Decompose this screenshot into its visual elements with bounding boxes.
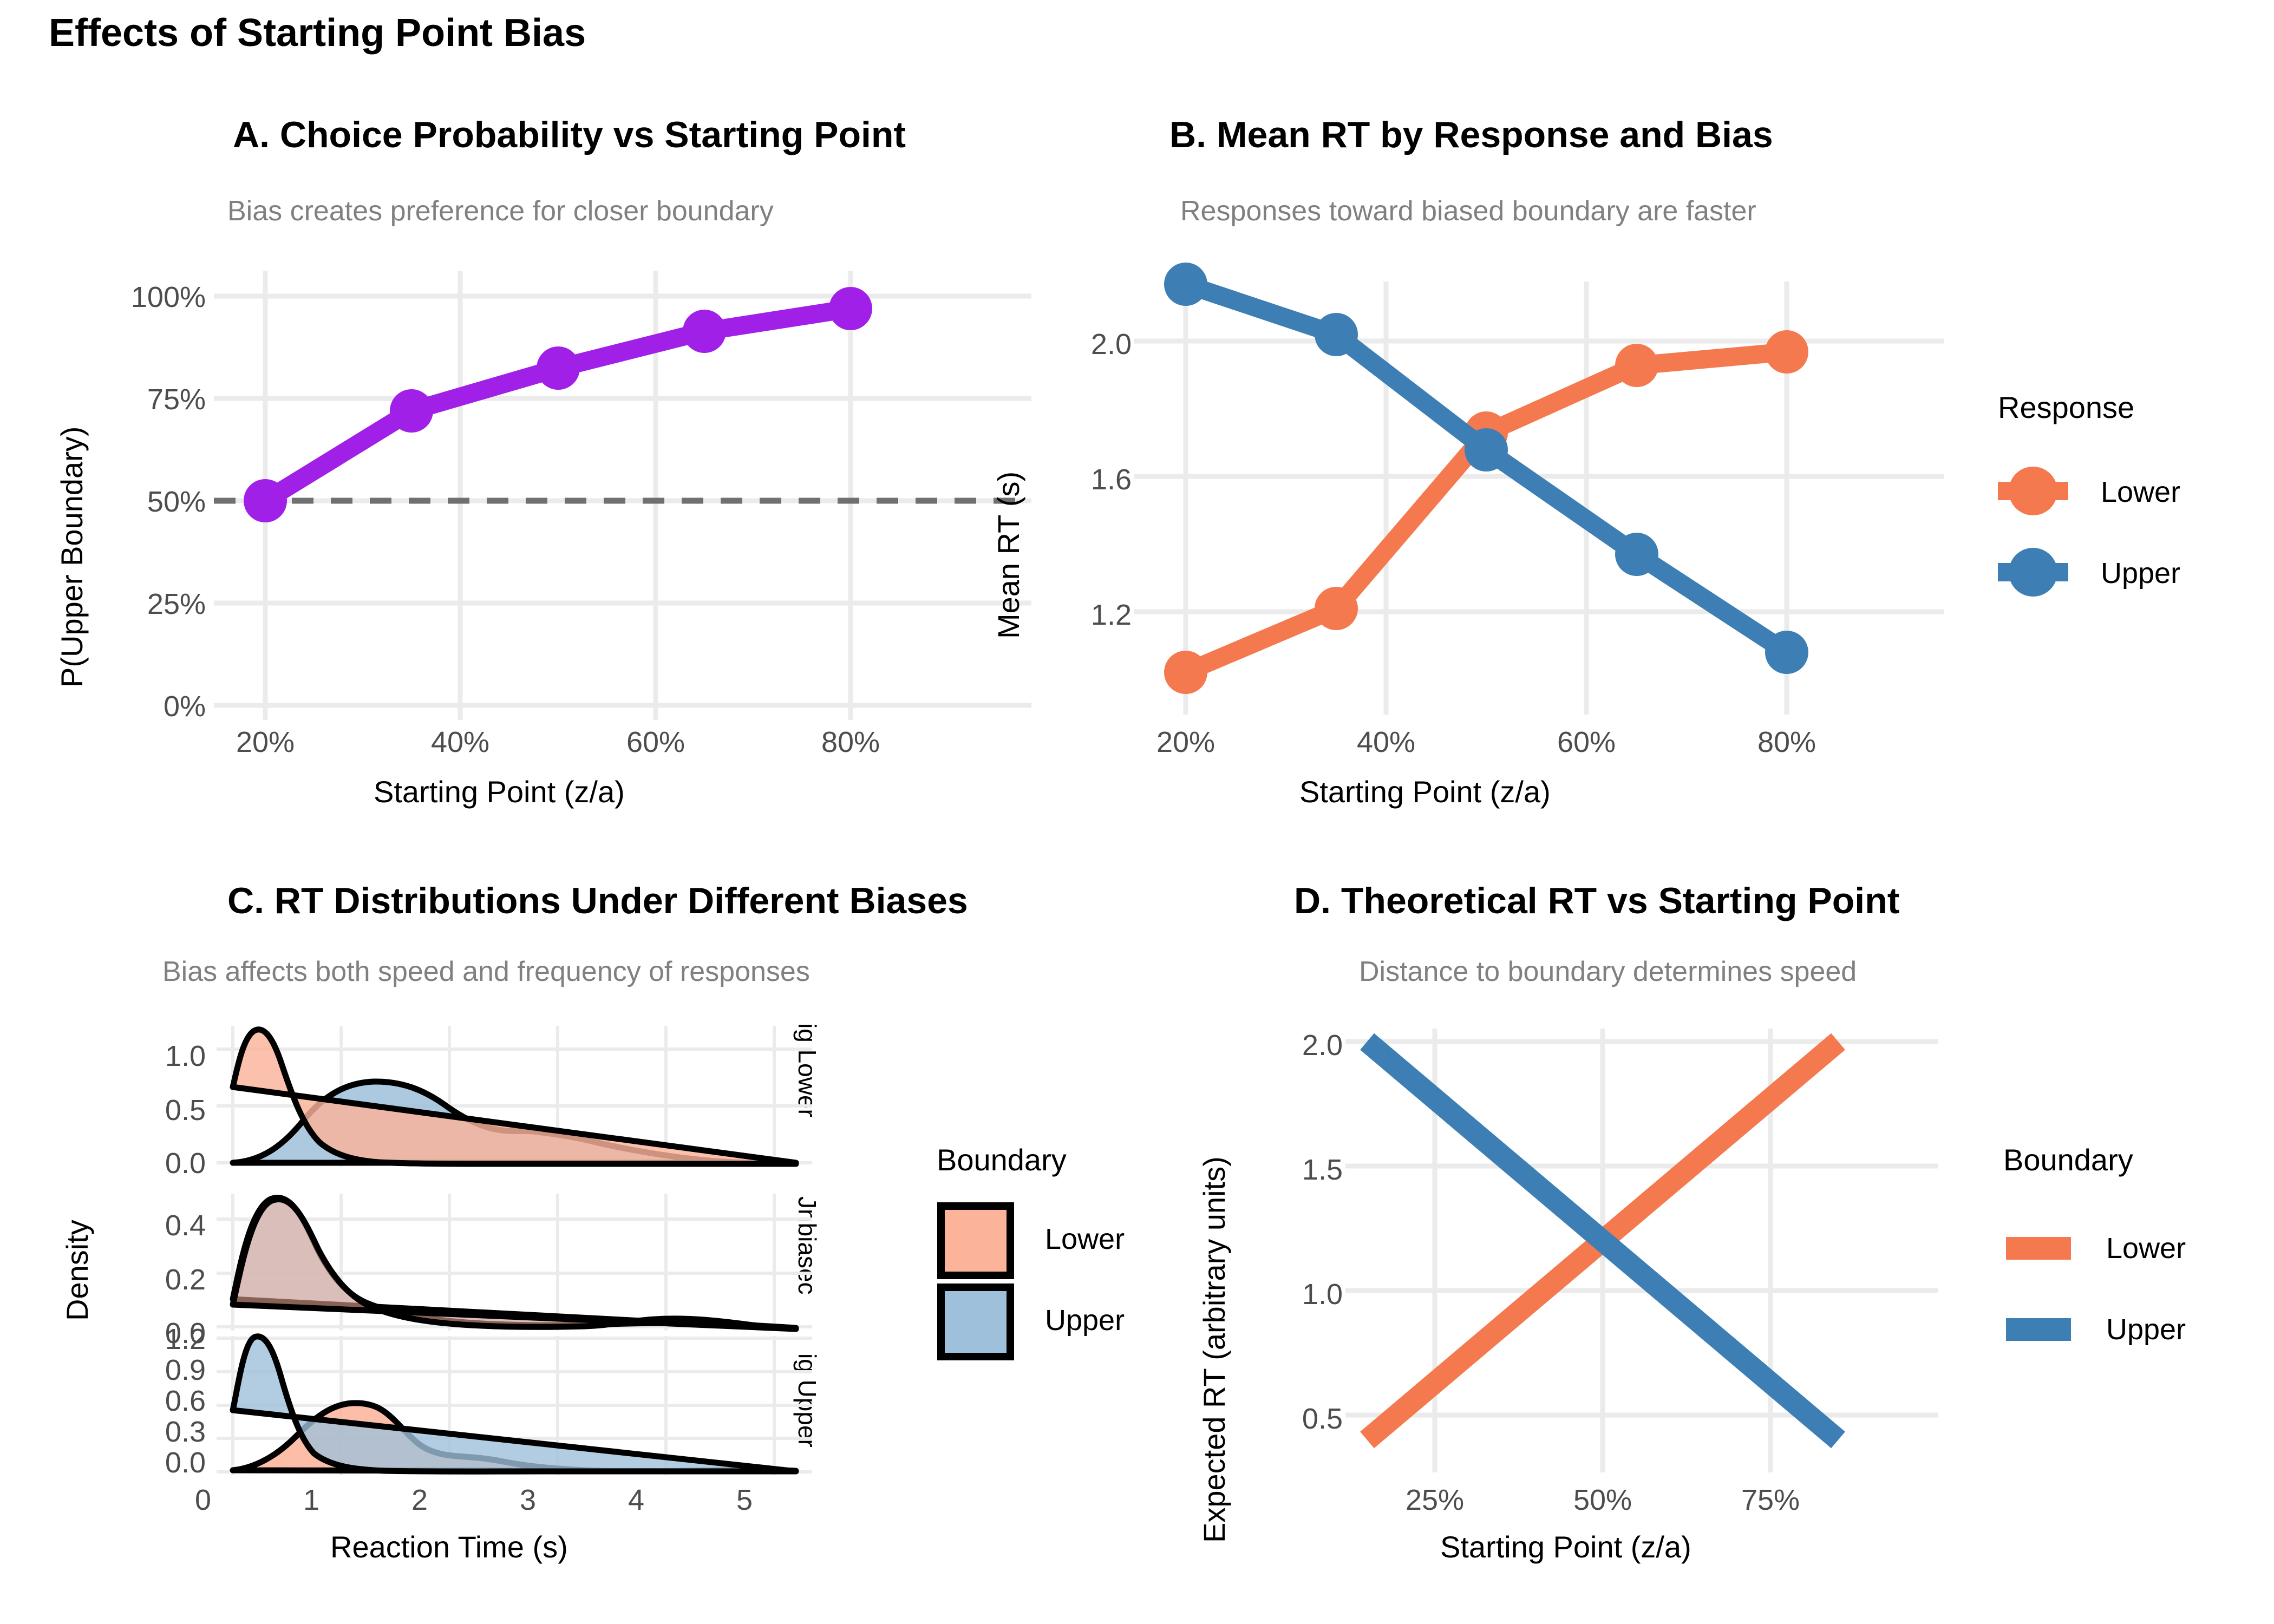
panel-d-legend-item-upper[interactable]: Upper [2106,1313,2186,1346]
figure-root: Effects of Starting Point Bias A. Choice… [0,0,2274,1624]
panel-d-legend-keys [0,0,2274,1624]
panel-d-legend-item-lower[interactable]: Lower [2106,1232,2186,1265]
